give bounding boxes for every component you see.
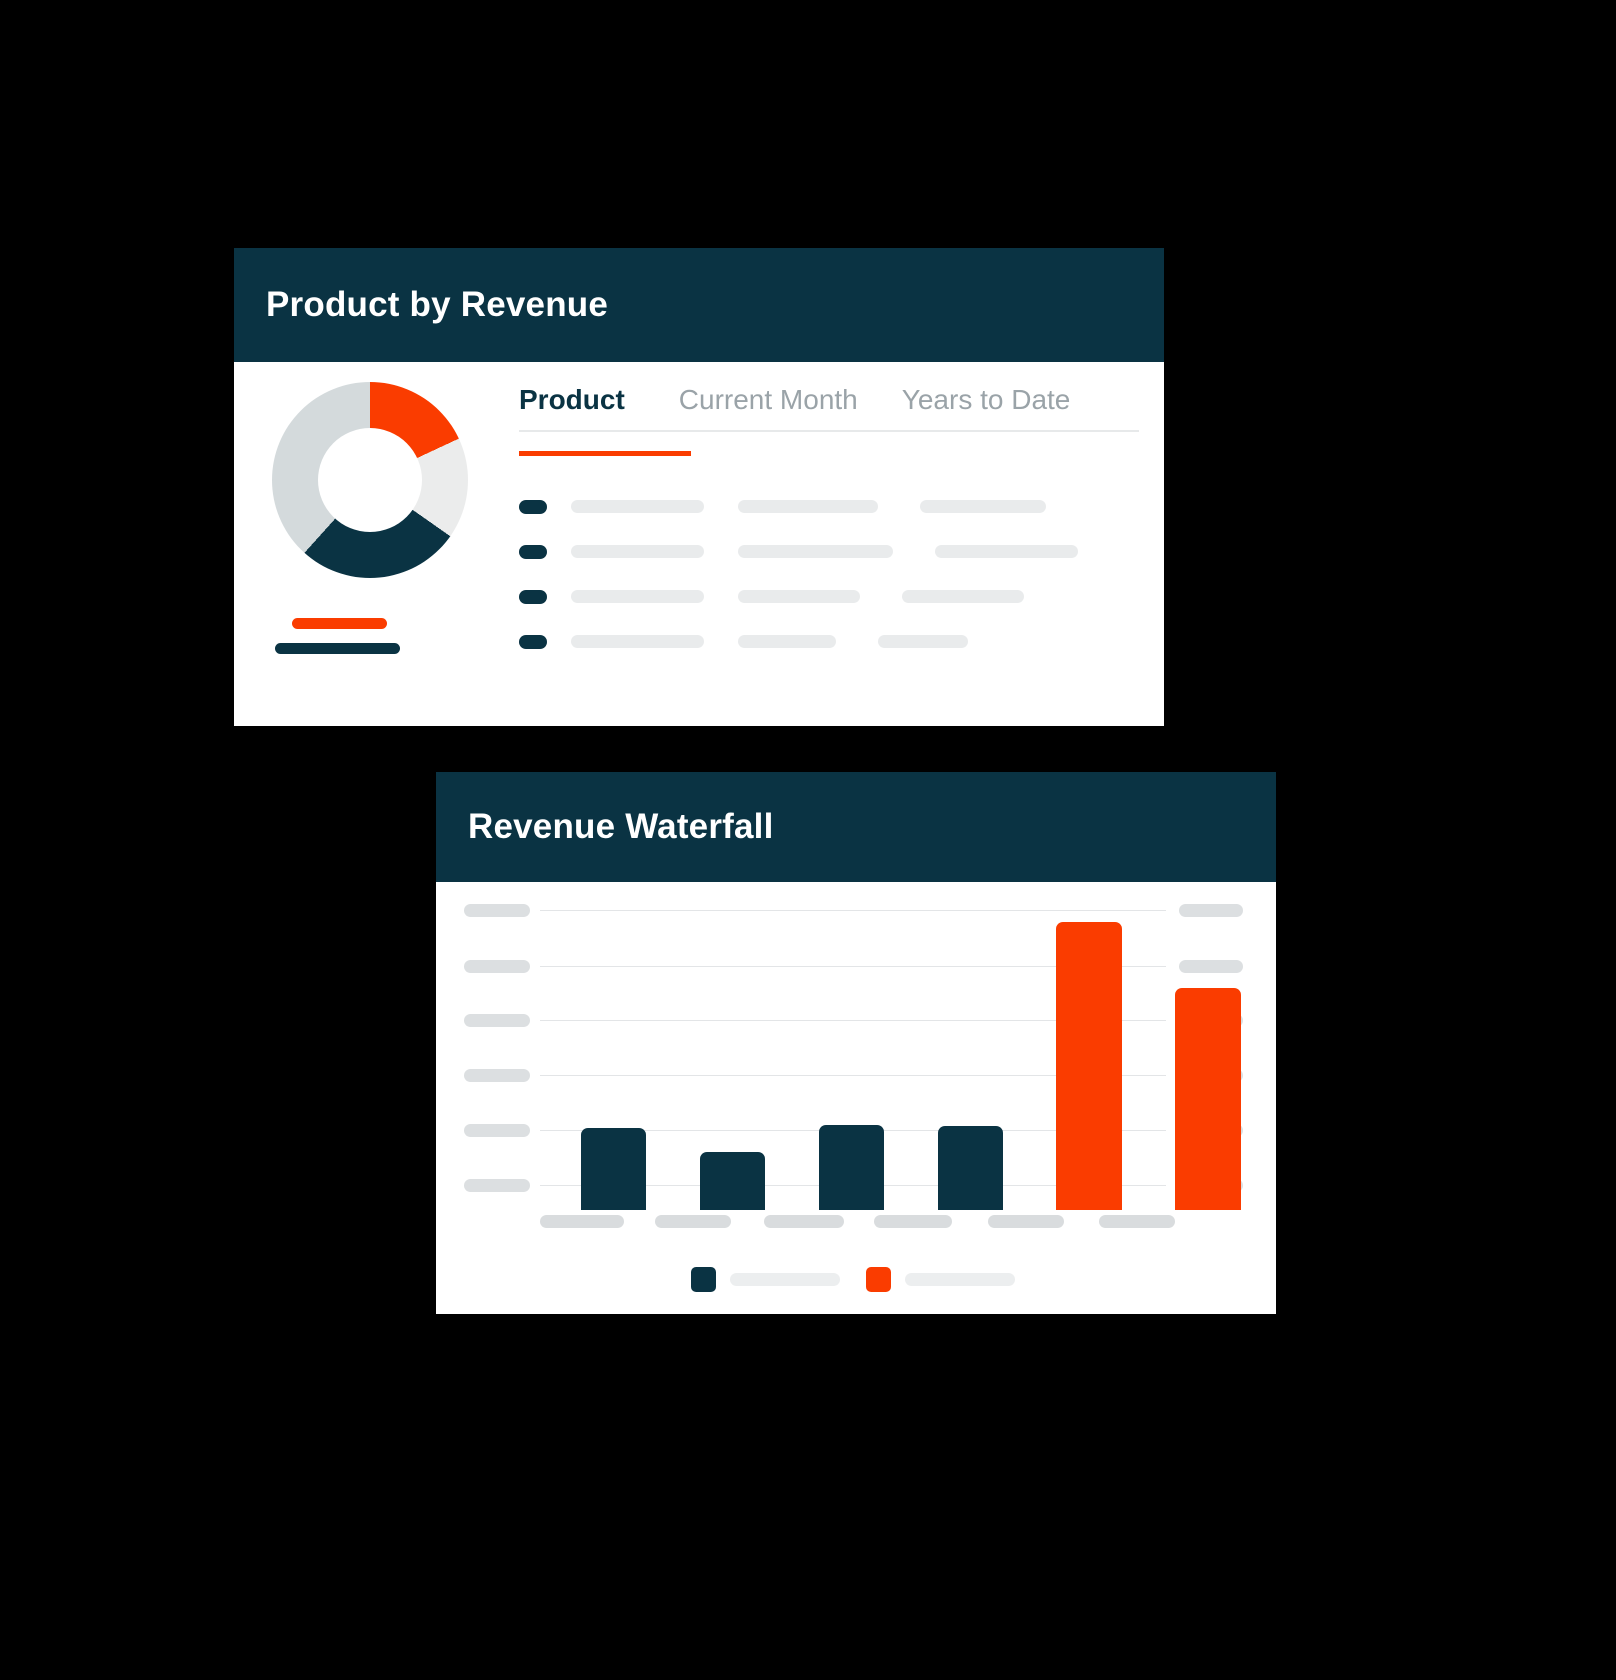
y-axis-tick-label [464,1069,530,1082]
product-table-skeleton [519,484,1139,664]
y-axis-tick-label [464,1124,530,1137]
bar-baseline-3[interactable] [819,1125,885,1211]
card-waterfall-header: Revenue Waterfall [436,772,1276,882]
page-title: Revenue Waterfall [468,807,774,847]
x-axis-tick-label [988,1215,1064,1228]
donut-legend-item-navy [275,643,400,654]
row-cell-product [571,500,704,513]
donut-legend-item-orange [292,618,387,629]
row-marker-pill [519,500,547,514]
y-axis-tick-label [464,1014,530,1027]
legend-label-placeholder [905,1273,1015,1286]
tab-product[interactable]: Product [519,384,625,416]
tab-bar: Product Current Month Years to Date [519,384,1139,432]
row-marker-pill [519,590,547,604]
x-axis-tick-label [764,1215,844,1228]
card-product-header: Product by Revenue [234,248,1164,362]
legend-swatch-orange [866,1267,891,1292]
card-product-by-revenue: Product by Revenue Product Current Month… [234,248,1164,726]
dashboard-stage: Product by Revenue Product Current Month… [0,0,1616,1680]
table-row[interactable] [519,619,1139,664]
bar-slot[interactable] [938,910,1004,1210]
bar-group [540,910,1166,1210]
row-cell-product [571,590,704,603]
x-axis-tick-label [874,1215,952,1228]
row-cell-current-month [738,590,860,603]
x-axis-tick-label [655,1215,731,1228]
row-cell-years-to-date [920,500,1046,513]
bar-slot[interactable] [1175,910,1241,1210]
bar-baseline-1[interactable] [581,1128,647,1211]
bar-slot[interactable] [581,910,647,1210]
bar-growth-2[interactable] [1175,988,1241,1210]
table-row[interactable] [519,529,1139,574]
card-revenue-waterfall: Revenue Waterfall [436,772,1276,1314]
tab-current-month[interactable]: Current Month [679,384,858,416]
row-marker-pill [519,635,547,649]
bar-slot[interactable] [819,910,885,1210]
row-cell-current-month [738,500,878,513]
bar-slot[interactable] [1056,910,1122,1210]
y-axis-tick-label [464,904,530,917]
row-cell-product [571,635,704,648]
bar-baseline-2[interactable] [700,1152,766,1211]
legend-item-baseline[interactable] [691,1267,840,1292]
row-cell-years-to-date [935,545,1078,558]
donut-chart [272,382,468,578]
y-axis-tick-label [464,960,530,973]
tab-years-to-date[interactable]: Years to Date [902,384,1071,416]
active-tab-indicator [519,451,691,456]
x-axis-tick-label [540,1215,624,1228]
bar-growth-1[interactable] [1056,922,1122,1210]
card-product-body: Product Current Month Years to Date [234,362,1164,726]
legend-swatch-navy [691,1267,716,1292]
row-cell-years-to-date [878,635,968,648]
x-axis-tick-label [1099,1215,1175,1228]
table-row[interactable] [519,484,1139,529]
chart-legend [540,1267,1166,1292]
donut-hole [318,428,422,532]
table-row[interactable] [519,574,1139,619]
page-title: Product by Revenue [266,285,608,325]
bar-slot[interactable] [700,910,766,1210]
legend-item-growth[interactable] [866,1267,1015,1292]
legend-label-placeholder [730,1273,840,1286]
row-cell-product [571,545,704,558]
row-marker-pill [519,545,547,559]
donut-legend [272,618,472,668]
waterfall-chart [436,882,1276,1314]
row-cell-current-month [738,635,836,648]
card-waterfall-body [436,882,1276,1314]
y-axis-tick-label [464,1179,530,1192]
row-cell-current-month [738,545,893,558]
row-cell-years-to-date [902,590,1024,603]
bar-baseline-4[interactable] [938,1126,1004,1210]
